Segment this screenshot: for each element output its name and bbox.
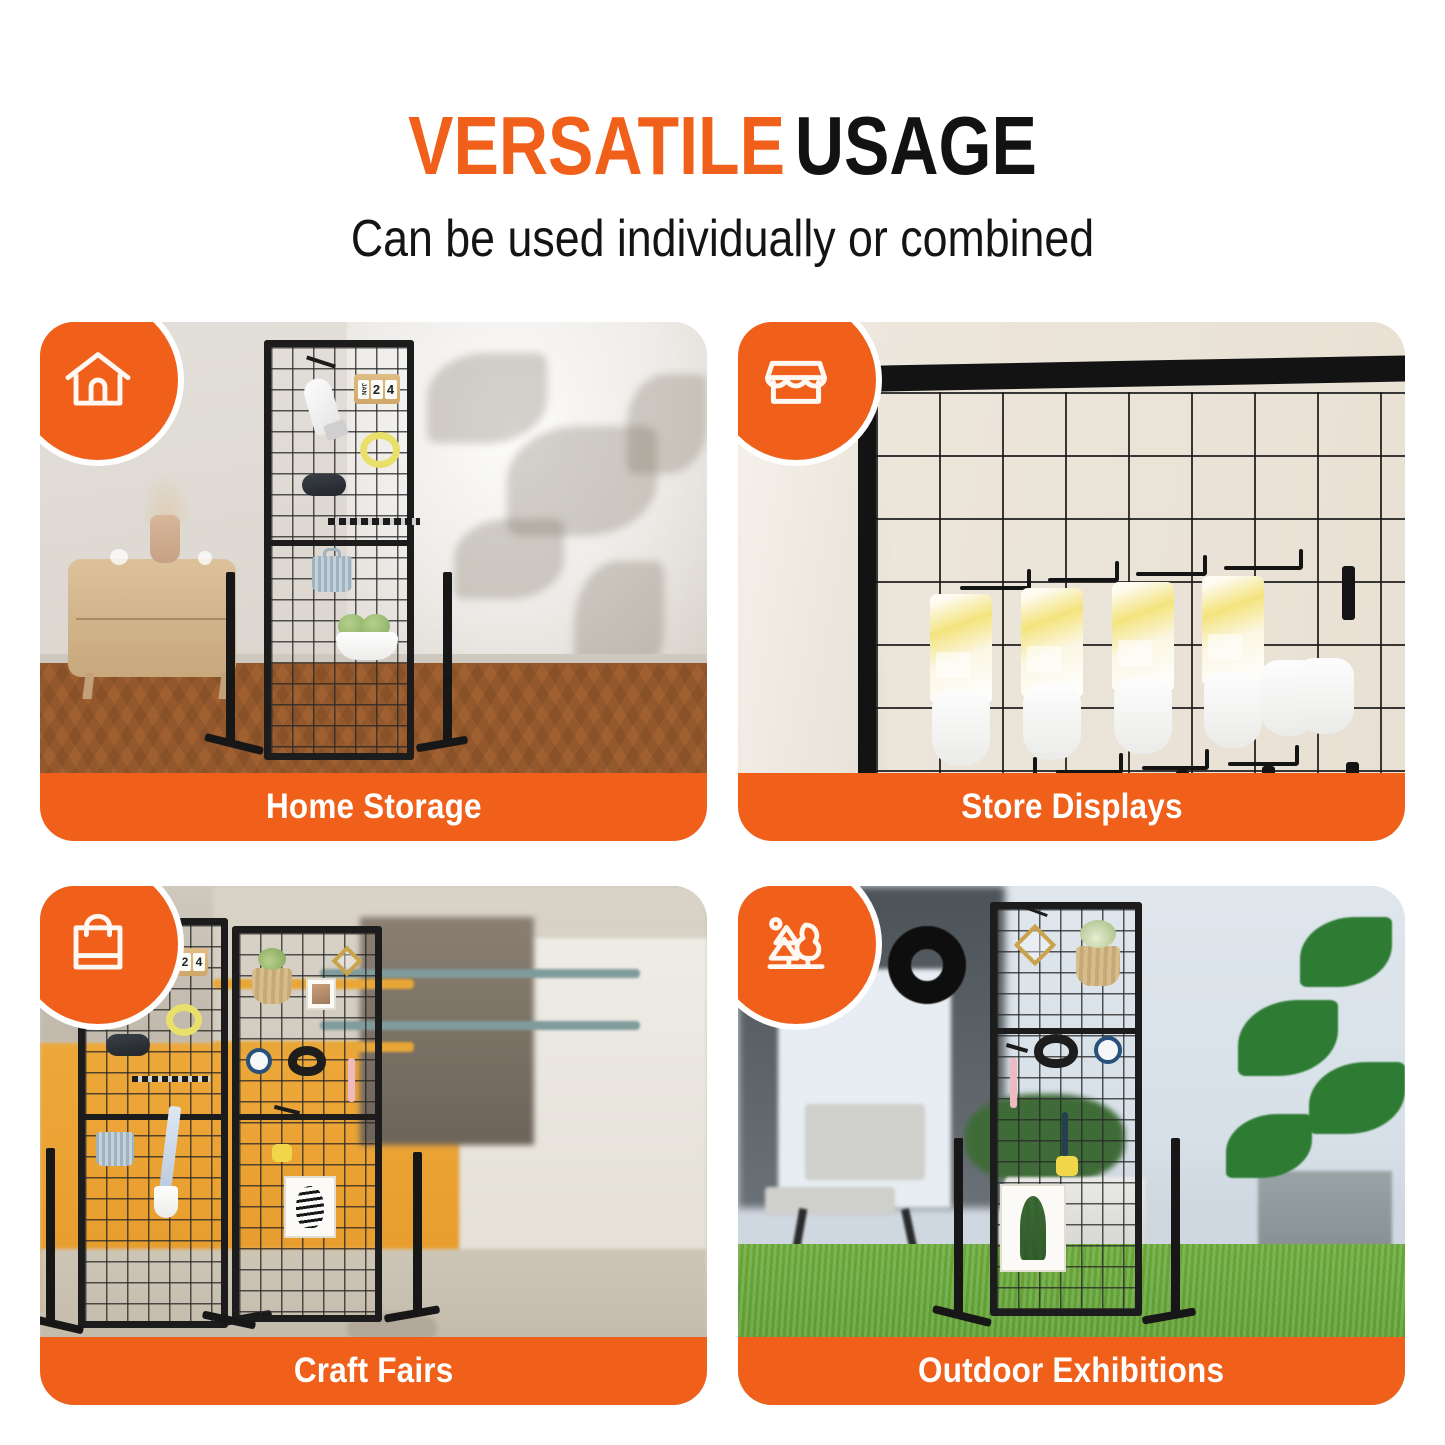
game-controller [302,474,346,496]
rack-mid-rail [78,1114,228,1120]
calendar-day-ones: 4 [385,380,397,399]
decor-object [110,549,128,565]
tape-measure [272,1144,292,1162]
stand-post-left [226,572,235,742]
grid-panel-stand [226,572,452,772]
peg-hook [1142,766,1208,770]
basket-flowers [1080,920,1116,948]
peg-clip [1342,566,1355,620]
sock-package [930,594,992,702]
folding-chair-seat [765,1187,895,1215]
panel-caption-label: Home Storage [266,787,482,827]
panel-caption-store-displays: Store Displays [738,773,1405,841]
sock-package [1202,576,1264,684]
sock-toe [1114,678,1172,754]
leaf-shadow [627,374,707,474]
headphones [288,1046,326,1076]
ring-sign [888,926,966,1004]
stand-foot-left [202,1310,256,1329]
headline-rest: USAGE [795,99,1037,192]
photo-card [306,978,336,1010]
hook-strip [328,518,420,525]
shop-window [360,917,533,1145]
rack-mid-rail [264,540,414,546]
calendar-day-tens: 2 [179,953,191,971]
zebra-art-print [284,1176,336,1238]
calendar-block: JAN 2 4 [354,374,400,404]
peg-hook [1224,566,1302,570]
panel-caption-label: Store Displays [961,787,1182,827]
usage-panel-grid: JAN 2 4 Home Storage [40,322,1405,1405]
headphones [1034,1034,1078,1068]
page-subtitle: Can be used individually or combined [101,213,1344,265]
usage-panel-outdoor-exhibitions[interactable]: Outdoor Exhibitions [738,886,1405,1405]
usage-panel-store-displays[interactable]: Store Displays [738,322,1405,841]
white-planter [336,632,398,660]
stand-post-left [954,1138,963,1314]
bag-flowers [258,948,286,970]
package-label [1208,634,1242,660]
panel-caption-home-storage: Home Storage [40,773,707,841]
park-tree-icon [758,906,834,982]
cup [154,1186,178,1218]
woven-basket [1076,946,1120,986]
panel-caption-label: Outdoor Exhibitions [918,1351,1224,1391]
hook-strip [132,1076,210,1082]
zebra-illustration [296,1186,325,1229]
leaf-shadow [427,353,547,443]
woven-bag [252,968,292,1004]
stand-post-left [46,1148,55,1322]
sock-toe [1204,672,1262,748]
fern-art-print [1000,1184,1066,1272]
stand-post-right [443,572,452,742]
house-icon [61,343,135,417]
stand-post-right [413,1152,422,1316]
rack-mid-rail [232,1114,382,1120]
package-label [936,652,970,678]
rack-mid-rail [990,1028,1142,1034]
hook [1062,1112,1068,1156]
tape-measure [1056,1156,1078,1176]
peg-hook [1136,572,1206,576]
pink-strap [1010,1058,1017,1108]
jump-rope [360,432,400,468]
sideboard-cabinet [68,559,236,677]
usage-panel-home-storage[interactable]: JAN 2 4 Home Storage [40,322,707,841]
alarm-clock [1094,1036,1122,1064]
jump-rope [166,1004,202,1036]
panel-caption-craft-fairs: Craft Fairs [40,1337,707,1405]
stand-post-right [1171,1138,1180,1314]
calendar-day-ones: 4 [193,953,205,971]
sock-package [1112,582,1174,690]
basket-handle [323,548,341,558]
sock-toe [1296,658,1354,734]
folding-chair-back [805,1104,925,1180]
calendar-month: JAN [358,380,369,399]
leaf-shadow [454,519,564,599]
calendar-day-tens: 2 [371,380,383,399]
shopping-bag-icon [61,907,135,981]
panel-caption-outdoor-exhibitions: Outdoor Exhibitions [738,1337,1405,1405]
usage-panel-craft-fairs[interactable]: JAN 2 4 [40,886,707,1405]
decor-object [198,551,212,565]
headline-highlight: VERSATILE [408,99,785,192]
wire-basket [312,556,352,592]
wire-basket [96,1132,134,1166]
game-controller [106,1034,150,1056]
vase [150,515,180,563]
sock-toe [932,690,990,766]
page-title: VERSATILEUSAGE [130,104,1315,187]
panel-caption-label: Craft Fairs [294,1351,454,1391]
package-label [1027,646,1061,672]
fern-illustration [1020,1196,1046,1260]
peg-hook [960,586,1030,590]
peg-hook [1048,578,1118,582]
pink-strap [348,1058,355,1102]
sock-toe [1023,684,1081,760]
header: VERSATILEUSAGE Can be used individually … [0,0,1445,265]
alarm-clock [246,1048,272,1074]
sock-package [1021,588,1083,696]
storefront-icon [758,342,834,418]
package-label [1118,640,1152,666]
